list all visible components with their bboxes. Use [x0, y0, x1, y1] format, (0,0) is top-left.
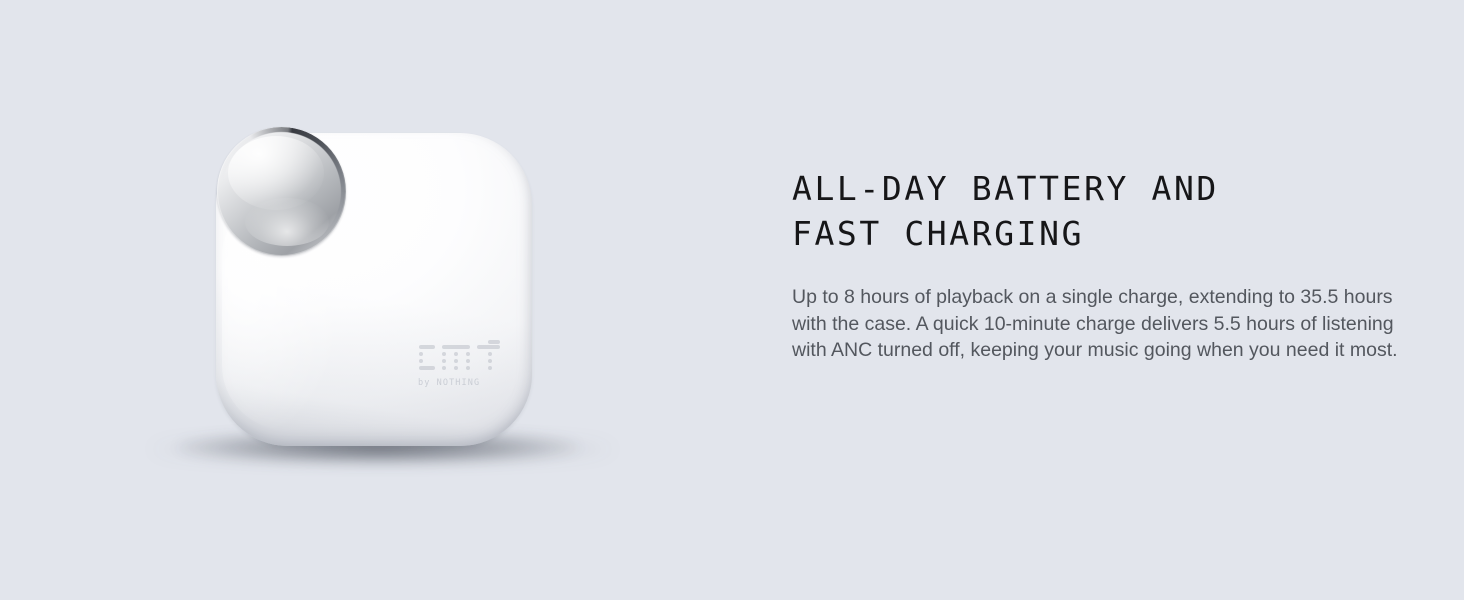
metallic-dial	[217, 127, 346, 256]
brand-sub-label: by NOTHING	[418, 378, 480, 388]
body-paragraph: Up to 8 hours of playback on a single ch…	[792, 256, 1402, 364]
product-image: by NOTHING	[0, 0, 740, 600]
product-feature-banner: by NOTHING ALL-DAY BATTERY AND FAST CHAR…	[0, 0, 1464, 600]
cmf-logo-icon	[418, 340, 508, 372]
headline: ALL-DAY BATTERY AND FAST CHARGING	[792, 166, 1412, 256]
copy-block: ALL-DAY BATTERY AND FAST CHARGING Up to …	[792, 166, 1412, 364]
